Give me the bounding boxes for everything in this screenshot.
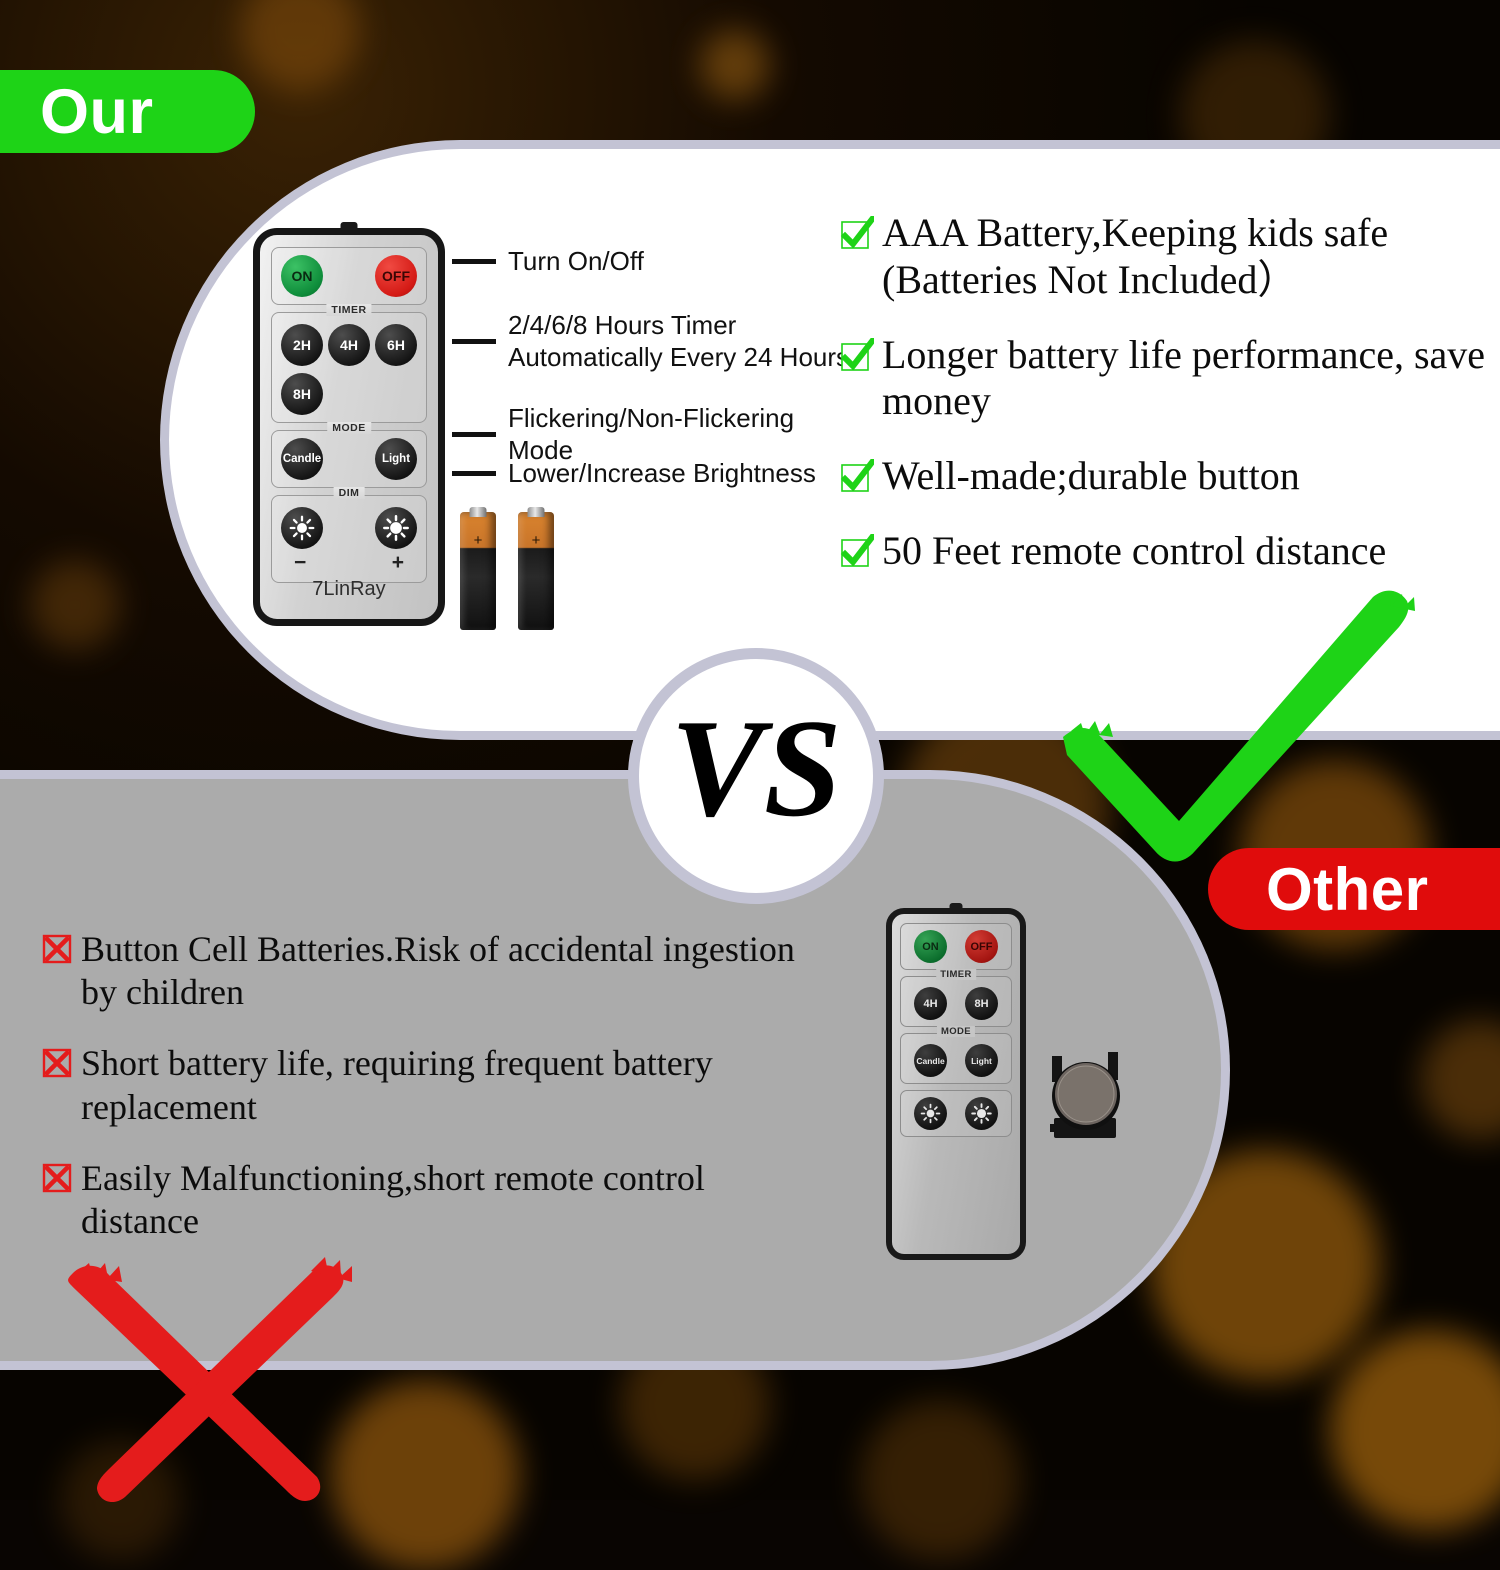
timer-6h-button[interactable]: 6H bbox=[375, 324, 417, 366]
cross-icon bbox=[42, 1163, 72, 1193]
other-light-mode-button[interactable]: Light bbox=[965, 1044, 998, 1077]
callout-line bbox=[452, 432, 496, 437]
callout-line bbox=[452, 471, 496, 476]
callout-label: Lower/Increase Brightness bbox=[508, 458, 816, 490]
callout-label: 2/4/6/8 Hours Timer Automatically Every … bbox=[508, 310, 849, 373]
timer-2h-button[interactable]: 2H bbox=[281, 324, 323, 366]
list-item: 50 Feet remote control distance bbox=[840, 528, 1500, 575]
dim-group: DIM bbox=[271, 495, 427, 583]
mode-group-label: MODE bbox=[327, 422, 371, 434]
callout-dim: Lower/Increase Brightness bbox=[452, 458, 816, 490]
off-button[interactable]: OFF bbox=[375, 255, 417, 297]
candle-mode-button[interactable]: Candle bbox=[281, 438, 323, 480]
pro-text: 50 Feet remote control distance bbox=[882, 528, 1386, 575]
other-candle-mode-button[interactable]: Candle bbox=[914, 1044, 947, 1077]
battery-plus-label: + bbox=[474, 532, 483, 549]
con-text: Easily Malfunctioning,short remote contr… bbox=[81, 1157, 802, 1243]
dim-plus-label: + bbox=[392, 551, 404, 575]
other-timer-4h-button[interactable]: 4H bbox=[914, 987, 947, 1020]
other-timer-group-label: TIMER bbox=[936, 969, 976, 980]
other-mode-group: MODE Candle Light bbox=[900, 1033, 1012, 1084]
other-remote[interactable]: ON OFF TIMER 4H 8H MODE Candle Light bbox=[886, 908, 1026, 1260]
dim-group-label: DIM bbox=[334, 487, 365, 499]
list-item: Longer battery life performance, save mo… bbox=[840, 332, 1500, 426]
other-off-button[interactable]: OFF bbox=[965, 930, 998, 963]
vs-logo-icon: VS bbox=[661, 701, 851, 851]
other-on-button[interactable]: ON bbox=[914, 930, 947, 963]
check-icon bbox=[840, 534, 874, 568]
dim-minus-label: − bbox=[294, 551, 306, 575]
aaa-battery-pair: + + bbox=[460, 512, 570, 637]
pros-list: AAA Battery,Keeping kids safe (Batteries… bbox=[840, 210, 1500, 603]
power-group: ON OFF bbox=[271, 247, 427, 305]
timer-4h-button[interactable]: 4H bbox=[328, 324, 370, 366]
timer-group-label: TIMER bbox=[326, 304, 371, 316]
check-icon bbox=[840, 459, 874, 493]
green-check-mark-icon bbox=[1055, 585, 1435, 865]
other-brightness-up-icon[interactable] bbox=[965, 1097, 998, 1130]
check-icon bbox=[840, 338, 874, 372]
callout-timer: 2/4/6/8 Hours Timer Automatically Every … bbox=[452, 310, 849, 373]
other-timer-group: TIMER 4H 8H bbox=[900, 976, 1012, 1027]
pro-text: Longer battery life performance, save mo… bbox=[882, 332, 1500, 426]
on-button[interactable]: ON bbox=[281, 255, 323, 297]
brightness-down-icon[interactable] bbox=[281, 507, 323, 549]
svg-text:VS: VS bbox=[670, 701, 841, 846]
button-cell-battery-icon bbox=[1046, 1038, 1138, 1148]
cross-icon bbox=[42, 934, 72, 964]
con-text: Button Cell Batteries.Risk of accidental… bbox=[81, 928, 802, 1014]
list-item: Short battery life, requiring frequent b… bbox=[42, 1042, 802, 1128]
pro-text: Well-made;durable button bbox=[882, 453, 1300, 500]
timer-8h-button[interactable]: 8H bbox=[281, 373, 323, 415]
pro-text: AAA Battery,Keeping kids safe (Batteries… bbox=[882, 210, 1500, 304]
battery-plus-label: + bbox=[532, 532, 541, 549]
mode-group: MODE Candle Light bbox=[271, 430, 427, 488]
callout-line bbox=[452, 339, 496, 344]
vs-badge: VS bbox=[628, 648, 884, 904]
list-item: AAA Battery,Keeping kids safe (Batteries… bbox=[840, 210, 1500, 304]
aaa-battery: + bbox=[518, 512, 554, 630]
cross-icon bbox=[42, 1048, 72, 1078]
list-item: Well-made;durable button bbox=[840, 453, 1500, 500]
callout-label: Flickering/Non-Flickering Mode bbox=[508, 403, 852, 466]
callout-mode: Flickering/Non-Flickering Mode bbox=[452, 403, 852, 466]
cons-list: Button Cell Batteries.Risk of accidental… bbox=[42, 928, 802, 1271]
remote-brand-label: 7LinRay bbox=[260, 578, 438, 601]
check-icon bbox=[840, 216, 874, 250]
our-badge: Our bbox=[0, 70, 255, 153]
con-text: Short battery life, requiring frequent b… bbox=[81, 1042, 802, 1128]
callout-power: Turn On/Off bbox=[452, 246, 644, 278]
aaa-battery: + bbox=[460, 512, 496, 630]
list-item: Easily Malfunctioning,short remote contr… bbox=[42, 1157, 802, 1243]
other-brightness-down-icon[interactable] bbox=[914, 1097, 947, 1130]
timer-group: TIMER 2H 4H 6H 8H bbox=[271, 312, 427, 423]
callout-line bbox=[452, 259, 496, 264]
callout-label: Turn On/Off bbox=[508, 246, 644, 278]
other-power-group: ON OFF bbox=[900, 923, 1012, 970]
other-dim-group bbox=[900, 1090, 1012, 1137]
list-item: Button Cell Batteries.Risk of accidental… bbox=[42, 928, 802, 1014]
red-cross-mark-icon bbox=[55, 1245, 365, 1505]
brightness-up-icon[interactable] bbox=[375, 507, 417, 549]
other-mode-group-label: MODE bbox=[937, 1026, 975, 1037]
other-timer-8h-button[interactable]: 8H bbox=[965, 987, 998, 1020]
our-remote[interactable]: ON OFF TIMER 2H 4H 6H 8H MODE Candle Lig… bbox=[253, 228, 445, 626]
light-mode-button[interactable]: Light bbox=[375, 438, 417, 480]
